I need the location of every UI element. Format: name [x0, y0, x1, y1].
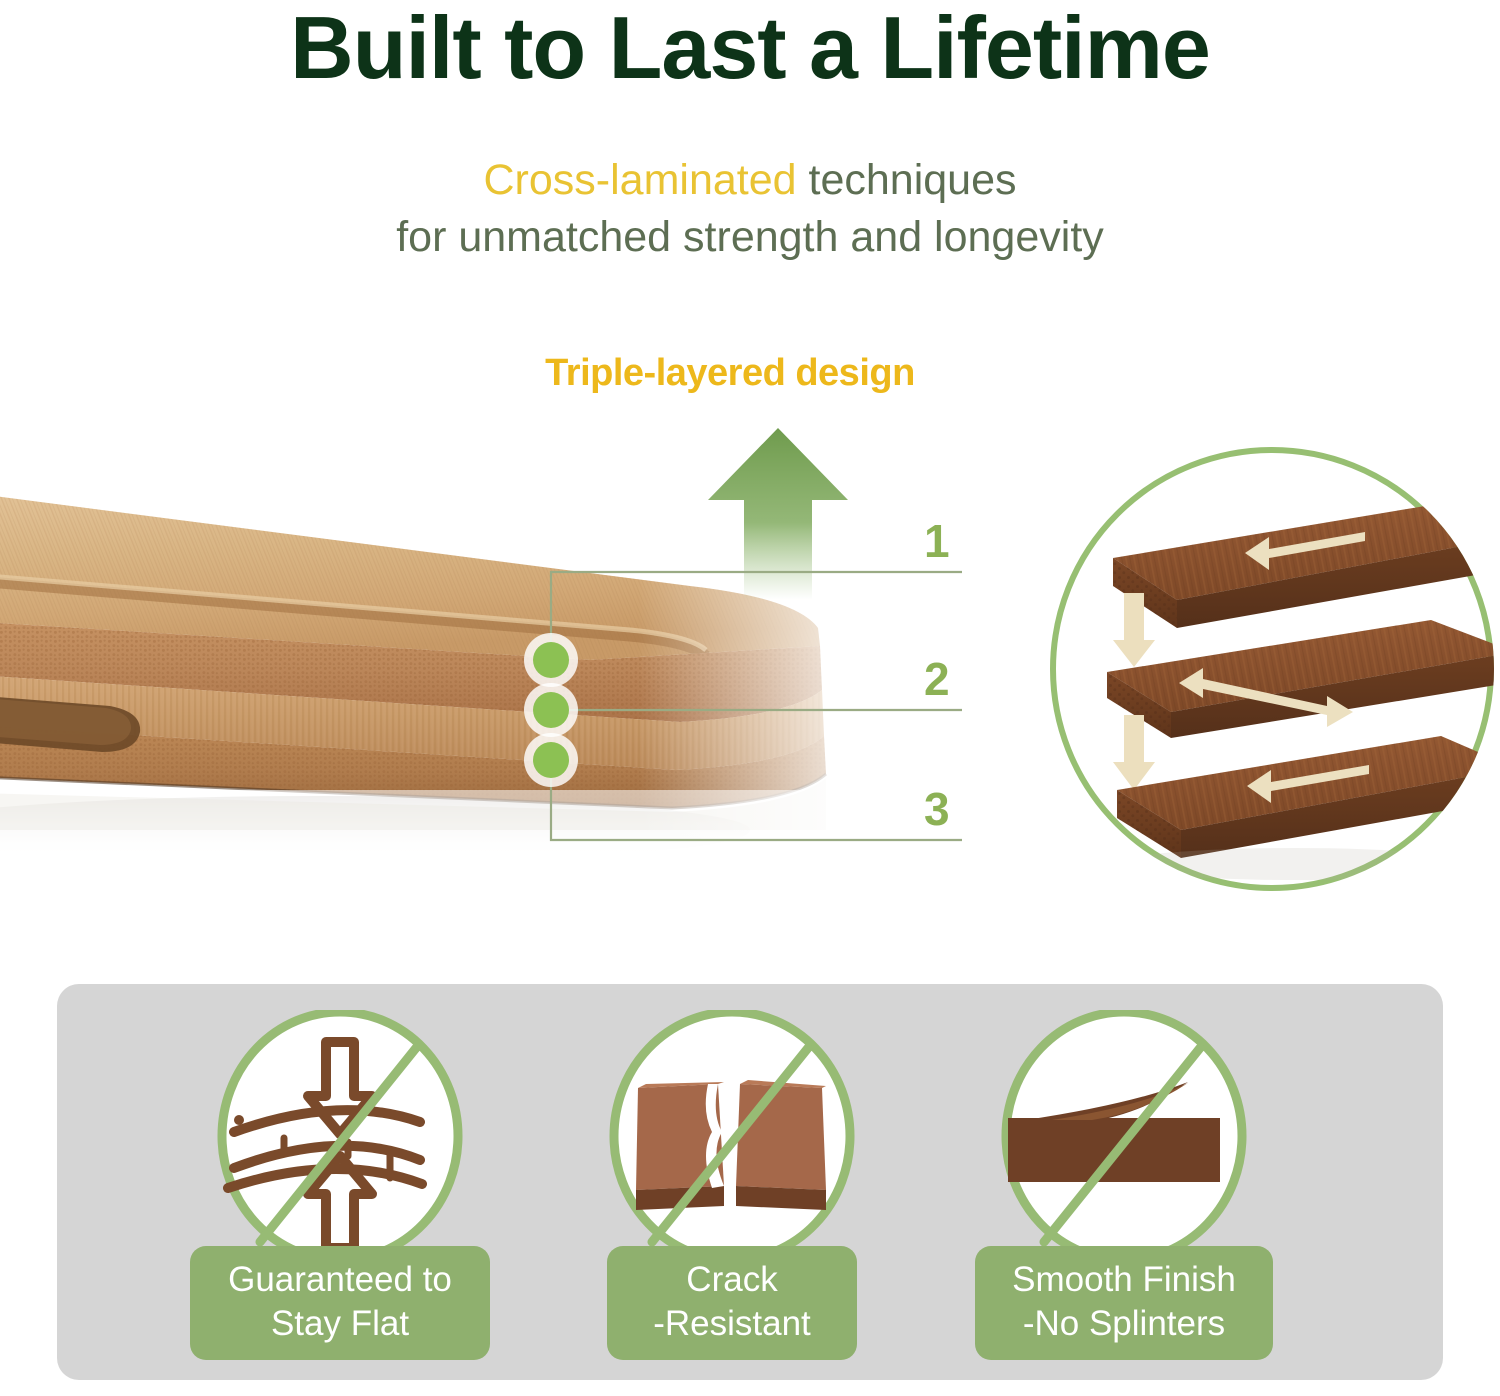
features-panel: Guaranteed to Stay Flat [57, 984, 1443, 1380]
triple-layer-heading: Triple-layered design [0, 352, 1500, 395]
feature-label-2: Crack -Resistant [607, 1246, 857, 1360]
layer-marker-dot-icon [524, 633, 578, 787]
triple-layer-heading-text: Triple-layered design [545, 352, 915, 394]
warp-pressure-icon [208, 1010, 472, 1282]
feature-smooth-finish[interactable]: Smooth Finish -No Splinters [959, 1010, 1289, 1360]
feature-label-3: Smooth Finish -No Splinters [975, 1246, 1273, 1360]
splinter-board-icon [992, 1010, 1256, 1282]
callout-number-2: 2 [924, 656, 950, 702]
page-title: Built to Last a Lifetime [0, 2, 1500, 94]
cross-laminated-layers-diagram [1045, 440, 1500, 898]
layer-callouts: 1 2 3 [0, 350, 1010, 870]
feature-label-1: Guaranteed to Stay Flat [190, 1246, 490, 1360]
subtitle-line2: for unmatched strength and longevity [396, 213, 1104, 261]
feature-guaranteed-flat[interactable]: Guaranteed to Stay Flat [175, 1010, 505, 1360]
callout-number-1: 1 [924, 518, 950, 564]
subtitle-rest: techniques [797, 156, 1017, 204]
page-subtitle: Cross-laminated techniques for unmatched… [0, 152, 1500, 266]
subtitle-accent: Cross-laminated [484, 156, 797, 204]
cracked-board-icon [600, 1010, 864, 1282]
feature-crack-resistant[interactable]: Crack -Resistant [567, 1010, 897, 1360]
up-arrow-icon [708, 428, 848, 600]
callout-number-3: 3 [924, 786, 950, 832]
infographic-root: Built to Last a Lifetime Cross-laminated… [0, 0, 1500, 1396]
